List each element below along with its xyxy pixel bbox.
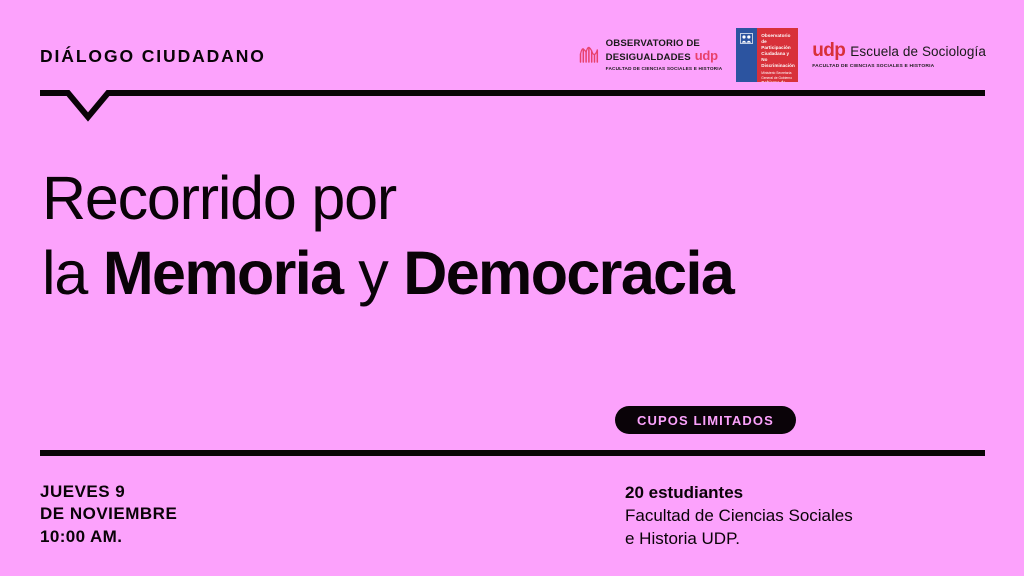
logo-observatorio-desigualdades: OBSERVATORIO DE DESIGUALDADES udp FACULT… xyxy=(579,35,723,75)
logo-gobierno-de-chile: Observatorio de Participación Ciudadana … xyxy=(736,28,798,82)
eyebrow-label: DIÁLOGO CIUDADANO xyxy=(40,46,266,67)
udp-brand-row: udp Escuela de Sociología xyxy=(812,41,986,60)
gobierno-crest-panel xyxy=(736,28,757,82)
observatorio-line2-row: DESIGUALDADES udp xyxy=(606,49,723,63)
logo-udp-sociologia: udp Escuela de Sociología FACULTAD DE CI… xyxy=(812,35,986,75)
title-la: la xyxy=(42,239,103,307)
wave-mark-icon xyxy=(579,46,601,64)
event-month: DE NOVIEMBRE xyxy=(40,503,177,525)
observatorio-udp-brand: udp xyxy=(695,49,718,62)
gobierno-title: Observatorio de Participación Ciudadana … xyxy=(761,33,795,69)
udp-brand: udp xyxy=(812,41,845,60)
event-date-block: JUEVES 9 DE NOVIEMBRE 10:00 AM. xyxy=(40,481,177,548)
gobierno-ministry: Ministerio Secretaría General de Gobiern… xyxy=(761,71,795,80)
title-y: y xyxy=(342,239,403,307)
title-memoria: Memoria xyxy=(103,239,343,307)
event-faculty-line1: Facultad de Ciencias Sociales xyxy=(625,504,853,527)
event-time: 10:00 AM. xyxy=(40,526,177,548)
gobierno-title-group: Observatorio de Participación Ciudadana … xyxy=(761,33,795,80)
poster-canvas: DIÁLOGO CIUDADANO OBSERVATORIO DE DESIGU… xyxy=(0,0,1024,576)
observatorio-subtitle: FACULTAD DE CIENCIAS SOCIALES E HISTORIA xyxy=(606,66,723,71)
logo-row: OBSERVATORIO DE DESIGUALDADES udp FACULT… xyxy=(579,27,986,83)
event-capacity: 20 estudiantes xyxy=(625,481,853,504)
udp-subtitle: FACULTAD DE CIENCIAS SOCIALES E HISTORIA xyxy=(812,64,986,69)
bottom-divider-rule xyxy=(40,450,985,456)
title-democracia: Democracia xyxy=(403,239,733,307)
event-capacity-block: 20 estudiantes Facultad de Ciencias Soci… xyxy=(625,481,853,550)
page-title: Recorrido por la Memoria y Democracia xyxy=(42,168,733,304)
top-divider-rule xyxy=(40,90,985,122)
udp-school-name: Escuela de Sociología xyxy=(850,45,986,59)
event-day: JUEVES 9 xyxy=(40,481,177,503)
observatorio-text-block: OBSERVATORIO DE DESIGUALDADES udp FACULT… xyxy=(606,39,723,71)
gobierno-text-panel: Observatorio de Participación Ciudadana … xyxy=(757,28,798,82)
title-line-2: la Memoria y Democracia xyxy=(42,243,733,304)
gobierno-footer: Gobierno de Chile xyxy=(761,80,795,82)
chile-crest-icon xyxy=(740,33,753,44)
event-faculty-line2: e Historia UDP. xyxy=(625,527,853,550)
status-badge: CUPOS LIMITADOS xyxy=(615,406,796,434)
observatorio-line2: DESIGUALDADES xyxy=(606,53,691,63)
title-line-1: Recorrido por xyxy=(42,168,733,229)
